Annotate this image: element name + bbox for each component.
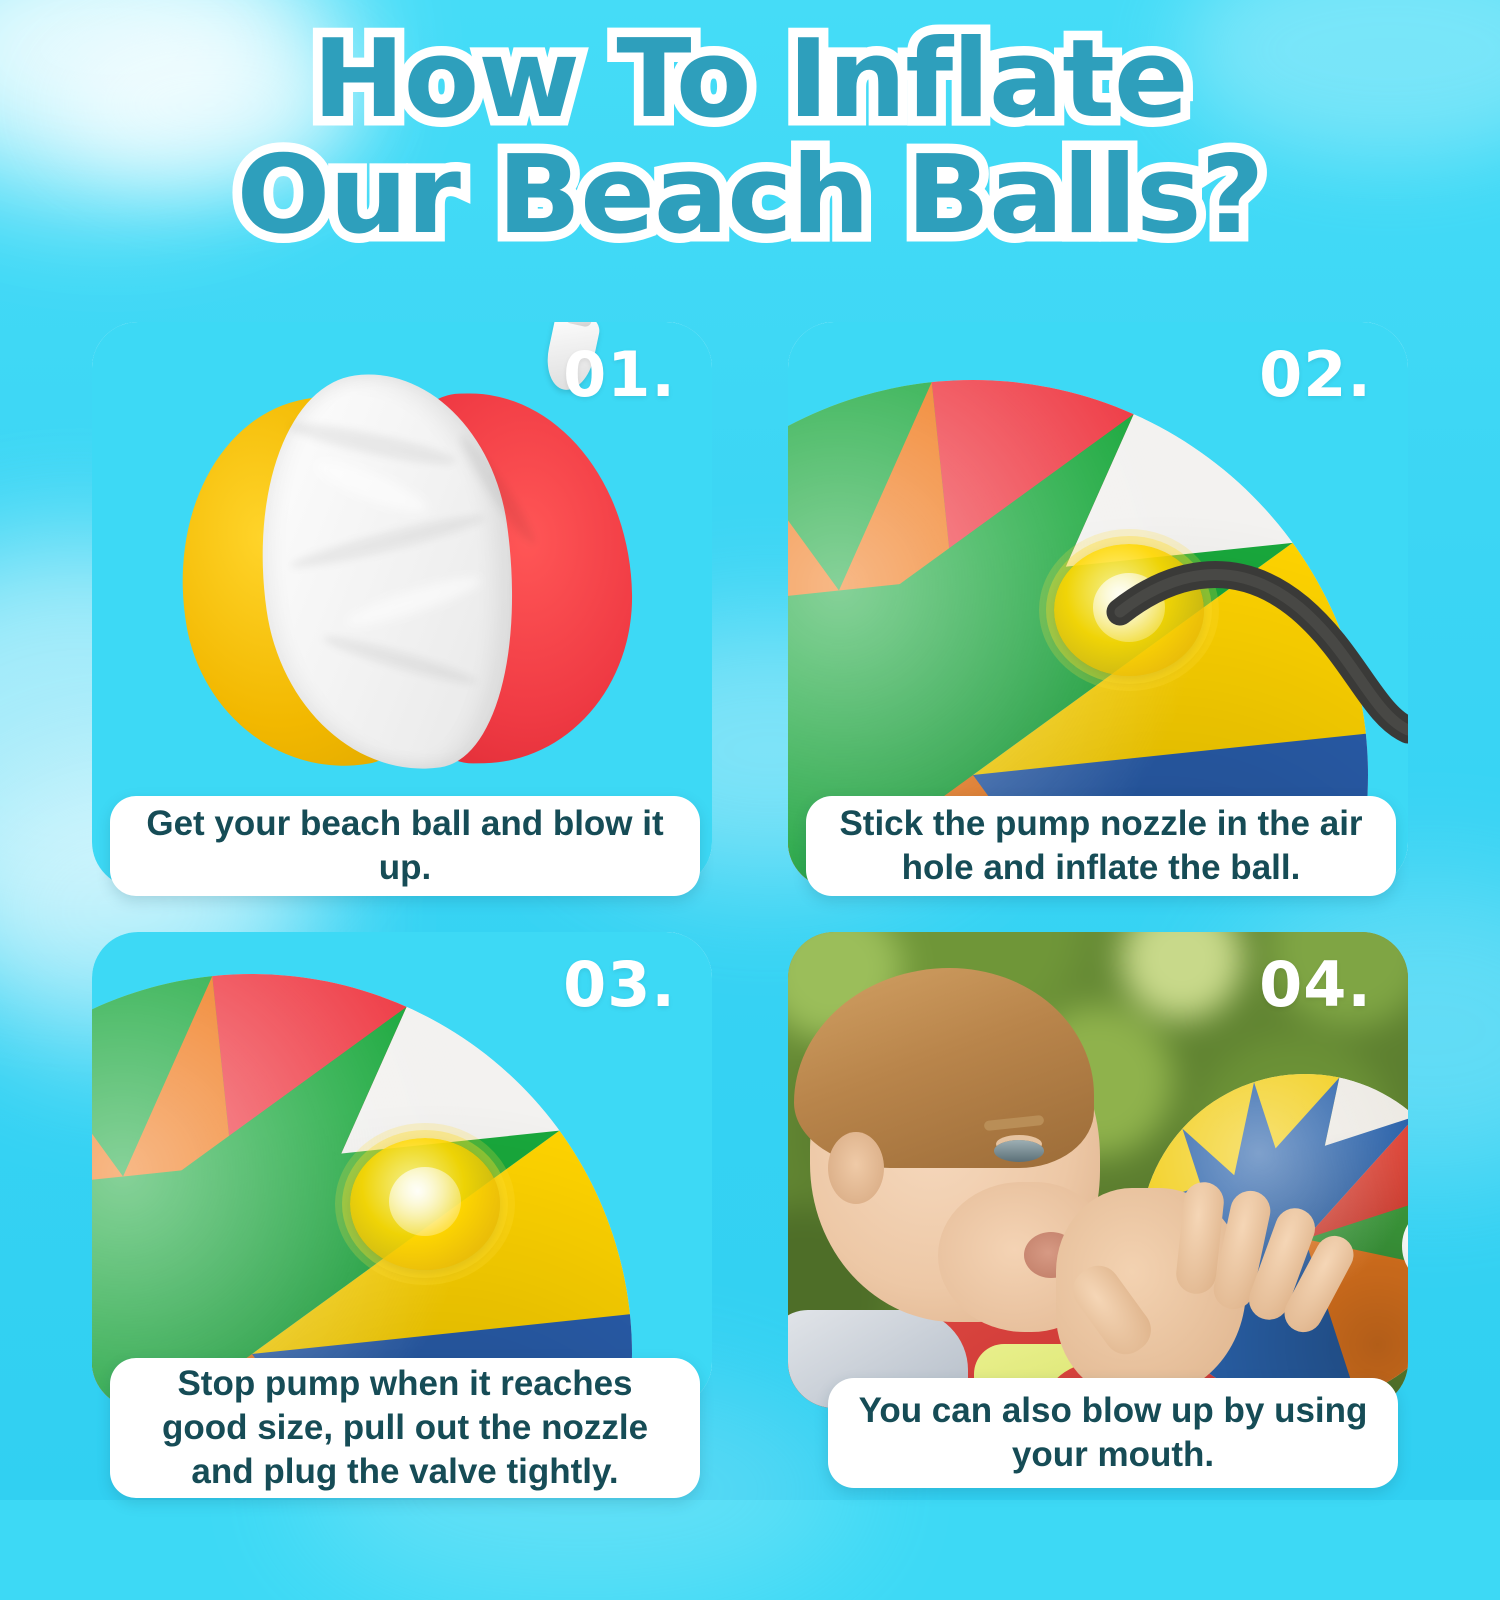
step-panel-4[interactable]: 04. [788, 932, 1408, 1408]
step-number-2: 02. [1259, 344, 1372, 406]
step-caption-2: Stick the pump nozzle in the air hole an… [806, 796, 1396, 896]
step-panel-3[interactable]: 03. [92, 932, 712, 1408]
title-line-2: Our Beach Balls? [0, 144, 1500, 248]
step-caption-4: You can also blow up by using your mouth… [828, 1378, 1398, 1488]
title-line-1: How To Inflate [0, 28, 1500, 132]
step-caption-1: Get your beach ball and blow it up. [110, 796, 700, 896]
step-number-1: 01. [563, 344, 676, 406]
step-caption-3: Stop pump when it reaches good size, pul… [110, 1358, 700, 1498]
step-number-3: 03. [563, 954, 676, 1016]
deflated-beach-ball-illustration [159, 331, 632, 804]
air-valve-icon [350, 1138, 500, 1270]
step-number-4: 04. [1259, 954, 1372, 1016]
page-title: How To Inflate Our Beach Balls? [0, 28, 1500, 248]
